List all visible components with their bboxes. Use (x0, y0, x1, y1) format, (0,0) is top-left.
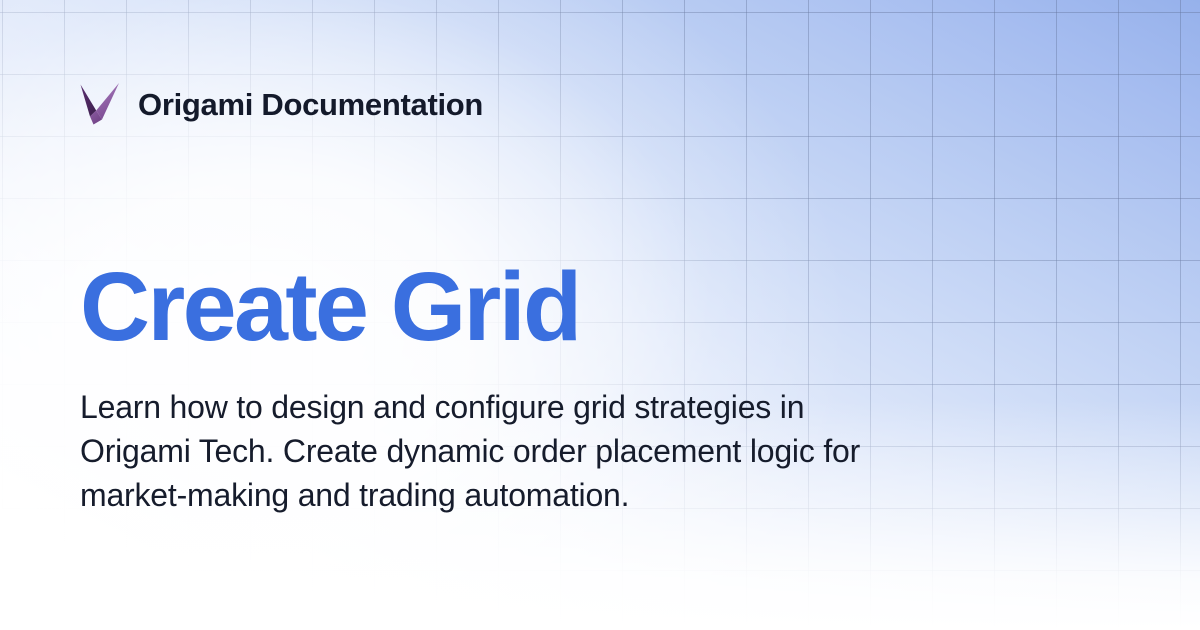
page-description: Learn how to design and configure grid s… (80, 385, 880, 517)
origami-checkmark-logo-icon (80, 83, 120, 125)
brand-name: Origami Documentation (138, 89, 483, 120)
card-content: Origami Documentation Create Grid Learn … (0, 0, 1200, 630)
page-title: Create Grid (80, 258, 580, 355)
brand-lockup: Origami Documentation (80, 80, 483, 128)
og-card: Origami Documentation Create Grid Learn … (0, 0, 1200, 630)
